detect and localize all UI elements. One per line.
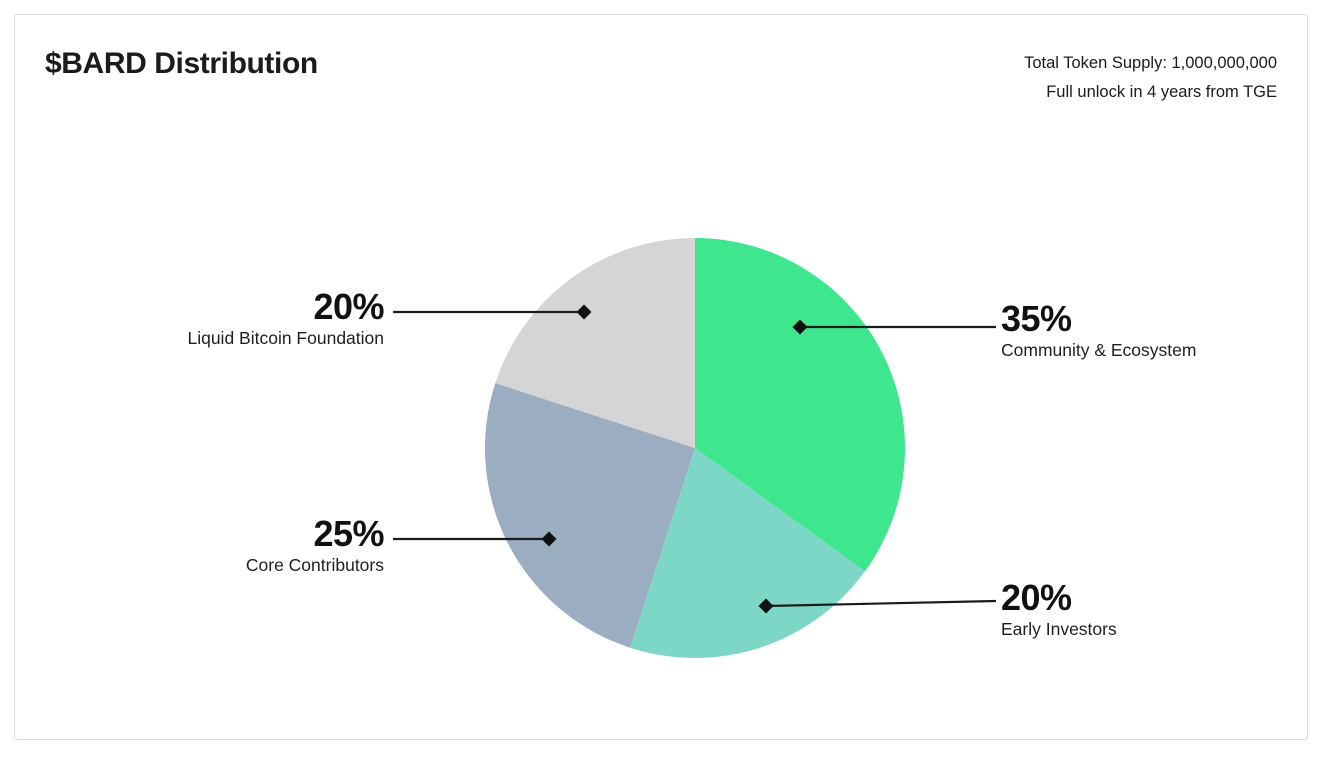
callout-community: 35% Community & Ecosystem [1001, 300, 1301, 362]
callout-core-contributors-percent: 25% [15, 515, 384, 553]
pie-slices [485, 238, 905, 658]
chart-card: $BARD Distribution Total Token Supply: 1… [14, 14, 1308, 740]
callout-foundation-percent: 20% [15, 288, 384, 326]
callout-core-contributors-name: Core Contributors [15, 553, 384, 577]
callout-early-investors: 20% Early Investors [1001, 579, 1301, 641]
callout-foundation-name: Liquid Bitcoin Foundation [15, 326, 384, 350]
callout-core-contributors: 25% Core Contributors [15, 515, 384, 577]
callout-foundation: 20% Liquid Bitcoin Foundation [15, 288, 384, 350]
pie-chart: 20% Liquid Bitcoin Foundation 25% Core C… [15, 15, 1309, 741]
callout-early-investors-name: Early Investors [1001, 617, 1301, 641]
callout-community-name: Community & Ecosystem [1001, 338, 1301, 362]
callout-community-percent: 35% [1001, 300, 1301, 338]
callout-early-investors-percent: 20% [1001, 579, 1301, 617]
